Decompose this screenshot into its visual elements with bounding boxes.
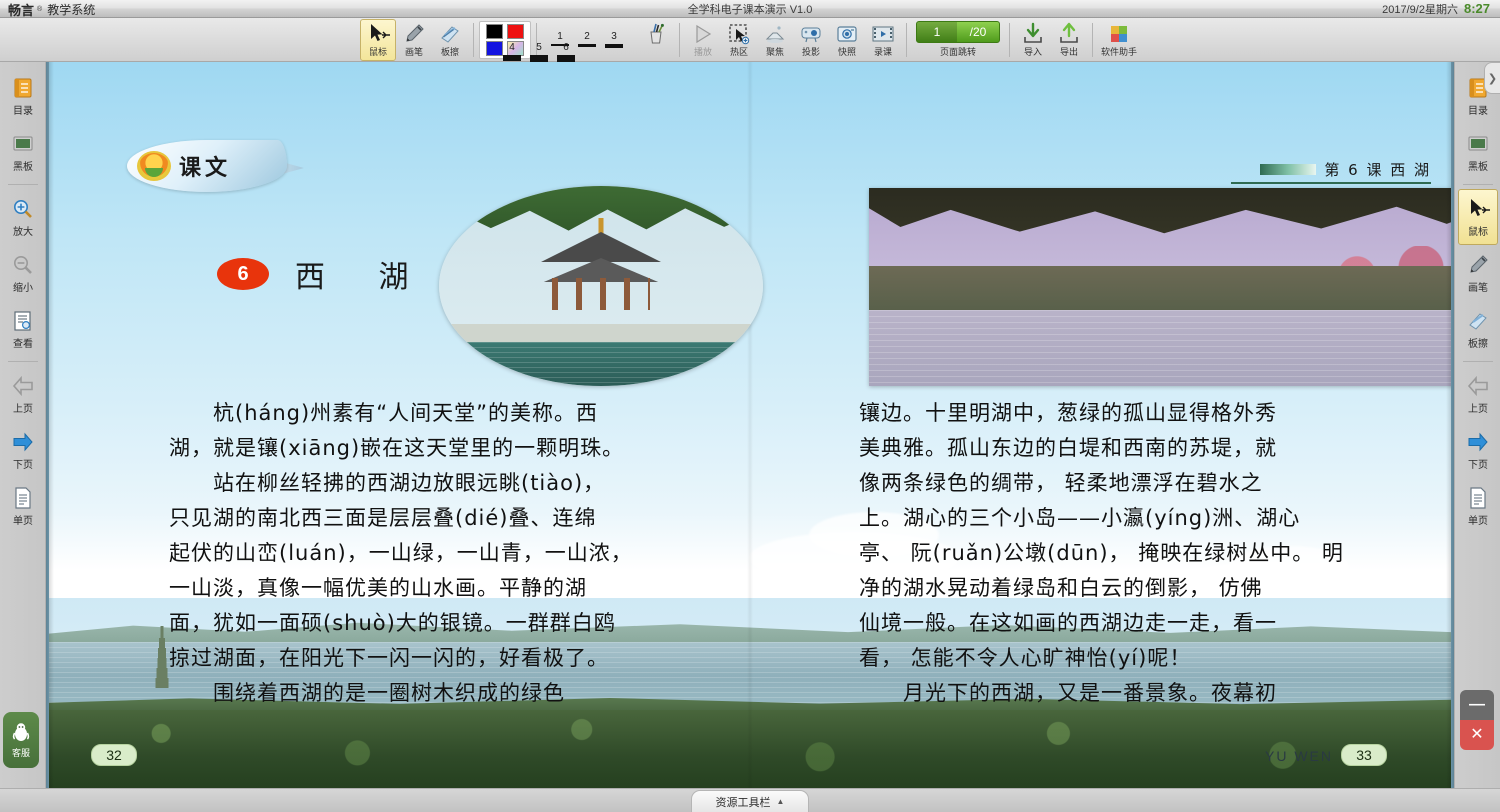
action-snapshot-label: 快照 (838, 47, 856, 57)
action-record-label: 录课 (874, 47, 892, 57)
play-icon (691, 22, 715, 46)
color-swatch-black[interactable] (486, 24, 503, 39)
text-column-left: 杭(háng)州素有“人间天堂”的美称。西 湖，就是镶(xiāng)嵌在这天堂里… (169, 396, 729, 711)
customer-support-label: 客服 (12, 749, 30, 758)
stroke-width-6-label: 6 (563, 42, 569, 53)
stroke-width-6[interactable]: 6 (556, 42, 576, 63)
arrow-left-icon (1466, 374, 1490, 398)
sidebar-item-next-page[interactable]: 下页 (0, 422, 46, 478)
stroke-width-4[interactable]: 4 (502, 42, 522, 63)
software-assistant-label: 软件助手 (1101, 47, 1137, 57)
paragraph-line: 只见湖的南北西三面是层层叠(dié)叠、连绵 (169, 501, 729, 536)
tool-pen-button[interactable]: 画笔 (396, 19, 432, 61)
pen-icon (402, 22, 426, 46)
lesson-tag: 第 6 课 西 湖 (1260, 159, 1431, 180)
blackboard-icon (11, 132, 35, 156)
right-sidebar-item-pen[interactable]: 画笔 (1455, 245, 1500, 301)
toolbar-divider (679, 23, 680, 57)
stroke-width-5-bar (530, 55, 548, 62)
tool-cursor-button[interactable]: 鼠标 (360, 19, 396, 61)
pavilion-photo (439, 186, 763, 386)
pavilion-structure (526, 216, 676, 308)
resource-toolbar-tab[interactable]: 资源工具栏 ▲ (691, 790, 809, 812)
section-banner: 课文 (127, 140, 287, 192)
action-hotspot-label: 热区 (730, 47, 748, 57)
stroke-width-4-bar (503, 55, 521, 61)
lesson-title: 西 湖 (295, 252, 431, 296)
toolbar-group-tools: 鼠标 画笔 (360, 19, 468, 61)
sidebar-item-zoom-out[interactable]: 缩小 (0, 245, 46, 301)
action-projection-button[interactable]: 投影 (793, 19, 829, 61)
single-page-icon (11, 486, 35, 510)
pen-icon (1466, 253, 1490, 277)
sidebar-divider (8, 184, 38, 185)
stroke-width-1-label: 1 (557, 31, 563, 42)
title-bar: 畅言 ® 教学系统 全学科电子课本演示 V1.0 2017/9/2星期六 8:2… (0, 0, 1500, 18)
sidebar-divider (8, 361, 38, 362)
clock: 2017/9/2星期六 8:27 (1382, 1, 1490, 17)
right-sidebar-item-prev-page[interactable]: 上页 (1455, 366, 1500, 422)
paragraph-line: 净的湖水晃动着绿岛和白云的倒影， 仿佛 (859, 571, 1439, 606)
edge-toggle-button[interactable]: ❯ (1484, 62, 1500, 94)
stroke-width-4-label: 4 (509, 42, 515, 53)
pavilion-pillars (552, 278, 650, 310)
bottom-bar: 资源工具栏 ▲ (0, 788, 1500, 812)
action-record-button[interactable]: 录课 (865, 19, 901, 61)
import-label: 导入 (1024, 47, 1042, 57)
sidebar-item-zoom-in-label: 放大 (13, 223, 33, 238)
book-spine (747, 62, 753, 788)
export-label: 导出 (1060, 47, 1078, 57)
sidebar-item-next-page-label: 下页 (13, 456, 33, 471)
sidebar-item-zoom-out-label: 缩小 (13, 279, 33, 294)
right-sidebar-item-contents-label: 目录 (1468, 102, 1488, 117)
clock-time: 8:27 (1464, 1, 1490, 16)
view-icon (11, 309, 35, 333)
record-icon (871, 22, 895, 46)
page-jump-box[interactable]: 1 /20 (916, 21, 1000, 43)
section-banner-label: 课文 (179, 150, 231, 182)
paragraph-line: 镶边。十里明湖中，葱绿的孤山显得格外秀 (859, 396, 1439, 431)
lesson-tag-rule (1231, 182, 1431, 184)
lesson-title-row: 6 西 湖 (217, 252, 431, 296)
paragraph-line: 面，犹如一面硕(shuò)大的银镜。一群群白鸥 (169, 606, 729, 641)
page-number-right: 33 (1341, 744, 1387, 766)
projection-icon (799, 22, 823, 46)
color-row-top (486, 24, 524, 39)
lakeside-water (869, 310, 1454, 386)
textbook-page[interactable]: 课文 第 6 课 西 湖 6 西 湖 (46, 62, 1454, 788)
paragraph-line: 仙境一般。在这如画的西湖边走一走，看一 (859, 606, 1439, 641)
stroke-width-3-bar (605, 44, 623, 48)
eraser-icon (1466, 309, 1490, 333)
cursor-icon (366, 22, 390, 46)
left-sidebar: 目录 黑板 放大 (0, 62, 46, 812)
stroke-width-3[interactable]: 3 (604, 31, 624, 48)
stroke-width-group-2: 4 5 6 (494, 42, 584, 63)
paragraph-line: 杭(háng)州素有“人间天堂”的美称。西 (169, 396, 729, 431)
sidebar-item-contents[interactable]: 目录 (0, 68, 46, 124)
sidebar-item-prev-page[interactable]: 上页 (0, 366, 46, 422)
minimize-icon: — (1469, 697, 1485, 713)
sidebar-item-view[interactable]: 查看 (0, 301, 46, 357)
pagoda-silhouette (154, 626, 170, 688)
tool-eraser-label: 板擦 (441, 47, 459, 57)
import-icon (1021, 22, 1045, 46)
main-toolbar: 鼠标 画笔 (0, 18, 1500, 62)
color-swatch-red[interactable] (507, 24, 524, 39)
paragraph-line: 月光下的西湖，又是一番景象。夜幕初 (859, 676, 1439, 711)
toolbar-divider (1092, 23, 1093, 57)
lesson-tag-label: 第 6 课 西 湖 (1324, 159, 1431, 180)
subject-mark: YU WEN (1265, 748, 1333, 764)
right-sidebar-item-next-page[interactable]: 下页 (1455, 422, 1500, 478)
customer-support-button[interactable]: 客服 (3, 712, 39, 768)
paragraph-line: 起伏的山峦(luán)，一山绿，一山青，一山浓， (169, 536, 729, 571)
sidebar-item-single-page[interactable]: 单页 (0, 478, 46, 534)
pavilion-photo-water (439, 342, 763, 386)
pen-cup-icon (644, 22, 668, 46)
flower-emblem-icon (137, 151, 171, 181)
focus-icon (763, 22, 787, 46)
paragraph-line: 一山淡，真像一幅优美的山水画。平静的湖 (169, 571, 729, 606)
right-sidebar-item-eraser-label: 板擦 (1468, 335, 1488, 350)
right-sidebar-item-blackboard[interactable]: 黑板 (1455, 124, 1500, 180)
zoom-out-icon (11, 253, 35, 277)
right-sidebar-item-next-page-label: 下页 (1468, 456, 1488, 471)
sidebar-divider (1463, 184, 1493, 185)
close-icon: ✕ (1470, 727, 1483, 743)
sidebar-item-view-label: 查看 (13, 335, 33, 350)
single-page-icon (1466, 486, 1490, 510)
action-play-label: 播放 (694, 47, 712, 57)
toolbar-group-actions: 播放 热区 (685, 19, 901, 61)
sidebar-item-blackboard-label: 黑板 (13, 158, 33, 173)
toolbar-divider (1009, 23, 1010, 57)
text-column-right: 镶边。十里明湖中，葱绿的孤山显得格外秀 美典雅。孤山东边的白堤和西南的苏堤，就 … (859, 396, 1439, 711)
blackboard-icon (1466, 132, 1490, 156)
close-button[interactable]: ✕ (1460, 720, 1494, 750)
penguin-icon (12, 722, 30, 747)
application-window: 畅言 ® 教学系统 全学科电子课本演示 V1.0 2017/9/2星期六 8:2… (0, 0, 1500, 812)
action-projection-label: 投影 (802, 47, 820, 57)
zoom-in-icon (11, 197, 35, 221)
paragraph-line: 围绕着西湖的是一圈树木织成的绿色 (169, 676, 729, 711)
toolbar-divider (906, 23, 907, 57)
right-sidebar-item-eraser[interactable]: 板擦 (1455, 301, 1500, 357)
stroke-width-5[interactable]: 5 (529, 42, 549, 63)
eraser-icon (438, 22, 462, 46)
chevron-right-icon: ❯ (1488, 72, 1497, 85)
export-button[interactable]: 导出 (1051, 19, 1087, 61)
paragraph-line: 像两条绿色的绸带， 轻柔地漂浮在碧水之 (859, 466, 1439, 501)
hotspot-icon (727, 22, 751, 46)
stroke-width-5-label: 5 (536, 42, 542, 53)
lesson-number-text: 6 (237, 263, 248, 286)
action-play-button[interactable]: 播放 (685, 19, 721, 61)
sidebar-item-zoom-in[interactable]: 放大 (0, 189, 46, 245)
software-assistant-icon (1107, 22, 1131, 46)
import-button[interactable]: 导入 (1015, 19, 1051, 61)
right-sidebar-item-prev-page-label: 上页 (1468, 400, 1488, 415)
tool-eraser-button[interactable]: 板擦 (432, 19, 468, 61)
page-jump[interactable]: 1 /20 页面跳转 (912, 21, 1004, 58)
paragraph-line: 掠过湖面，在阳光下一闪一闪的，好看极了。 (169, 641, 729, 676)
right-sidebar-item-blackboard-label: 黑板 (1468, 158, 1488, 173)
paragraph-line: 上。湖心的三个小岛——小瀛(yíng)洲、湖心 (859, 501, 1439, 536)
snapshot-icon (835, 22, 859, 46)
chevron-up-icon: ▲ (777, 797, 785, 806)
arrow-right-icon (1466, 430, 1490, 454)
sidebar-divider (1463, 361, 1493, 362)
sidebar-item-contents-label: 目录 (13, 102, 33, 117)
lesson-tag-bar (1260, 164, 1316, 175)
page-number-left: 32 (91, 744, 137, 766)
action-snapshot-button[interactable]: 快照 (829, 19, 865, 61)
paragraph-line: 湖，就是镶(xiāng)嵌在这天堂里的一颗明珠。 (169, 431, 729, 466)
paragraph-line: 站在柳丝轻拂的西湖边放眼远眺(tiào)， (169, 466, 729, 501)
page-canvas: 课文 第 6 课 西 湖 6 西 湖 (49, 62, 1451, 788)
tool-pen-label: 画笔 (405, 47, 423, 57)
action-hotspot-button[interactable]: 热区 (721, 19, 757, 61)
right-sidebar-item-cursor-label: 鼠标 (1468, 223, 1488, 238)
sidebar-item-prev-page-label: 上页 (13, 400, 33, 415)
software-assistant-button[interactable]: 软件助手 (1098, 19, 1140, 61)
action-focus-label: 聚焦 (766, 47, 784, 57)
export-icon (1057, 22, 1081, 46)
app-title: 全学科电子课本演示 V1.0 (0, 1, 1500, 17)
window-controls: — ✕ (1460, 690, 1494, 750)
lakeside-shore (869, 266, 1454, 312)
arrow-left-icon (11, 374, 35, 398)
page-jump-total: /20 (957, 25, 999, 39)
pen-cup-button[interactable] (638, 19, 674, 61)
page-jump-current[interactable]: 1 (917, 22, 957, 42)
lesson-number-badge: 6 (217, 258, 269, 290)
toolbar-divider (473, 23, 474, 57)
right-sidebar-item-single-page[interactable]: 单页 (1455, 478, 1500, 534)
pavilion-upper-roof (526, 232, 676, 262)
contents-icon (11, 76, 35, 100)
right-sidebar-item-cursor[interactable]: 鼠标 (1458, 189, 1498, 245)
right-sidebar-item-pen-label: 画笔 (1468, 279, 1488, 294)
page-jump-label: 页面跳转 (940, 45, 976, 58)
resource-toolbar-label: 资源工具栏 (716, 794, 771, 810)
minimize-button[interactable]: — (1460, 690, 1494, 720)
paragraph-line: 亭、 阮(ruǎn)公墩(dūn)， 掩映在绿树丛中。 明 (859, 536, 1439, 571)
right-sidebar-item-single-page-label: 单页 (1468, 512, 1488, 527)
clock-date: 2017/9/2星期六 (1382, 1, 1458, 17)
paragraph-line: 看， 怎能不令人心旷神怡(yí)呢！ (859, 641, 1439, 676)
stroke-width-2-label: 2 (584, 31, 590, 42)
tool-cursor-label: 鼠标 (369, 47, 387, 57)
arrow-right-icon (11, 430, 35, 454)
lakeside-photo (869, 188, 1454, 386)
stroke-width-3-label: 3 (611, 31, 617, 42)
paragraph-line: 美典雅。孤山东边的白堤和西南的苏堤，就 (859, 431, 1439, 466)
sidebar-item-blackboard[interactable]: 黑板 (0, 124, 46, 180)
action-focus-button[interactable]: 聚焦 (757, 19, 793, 61)
sidebar-item-single-page-label: 单页 (13, 512, 33, 527)
cursor-icon (1466, 197, 1490, 221)
